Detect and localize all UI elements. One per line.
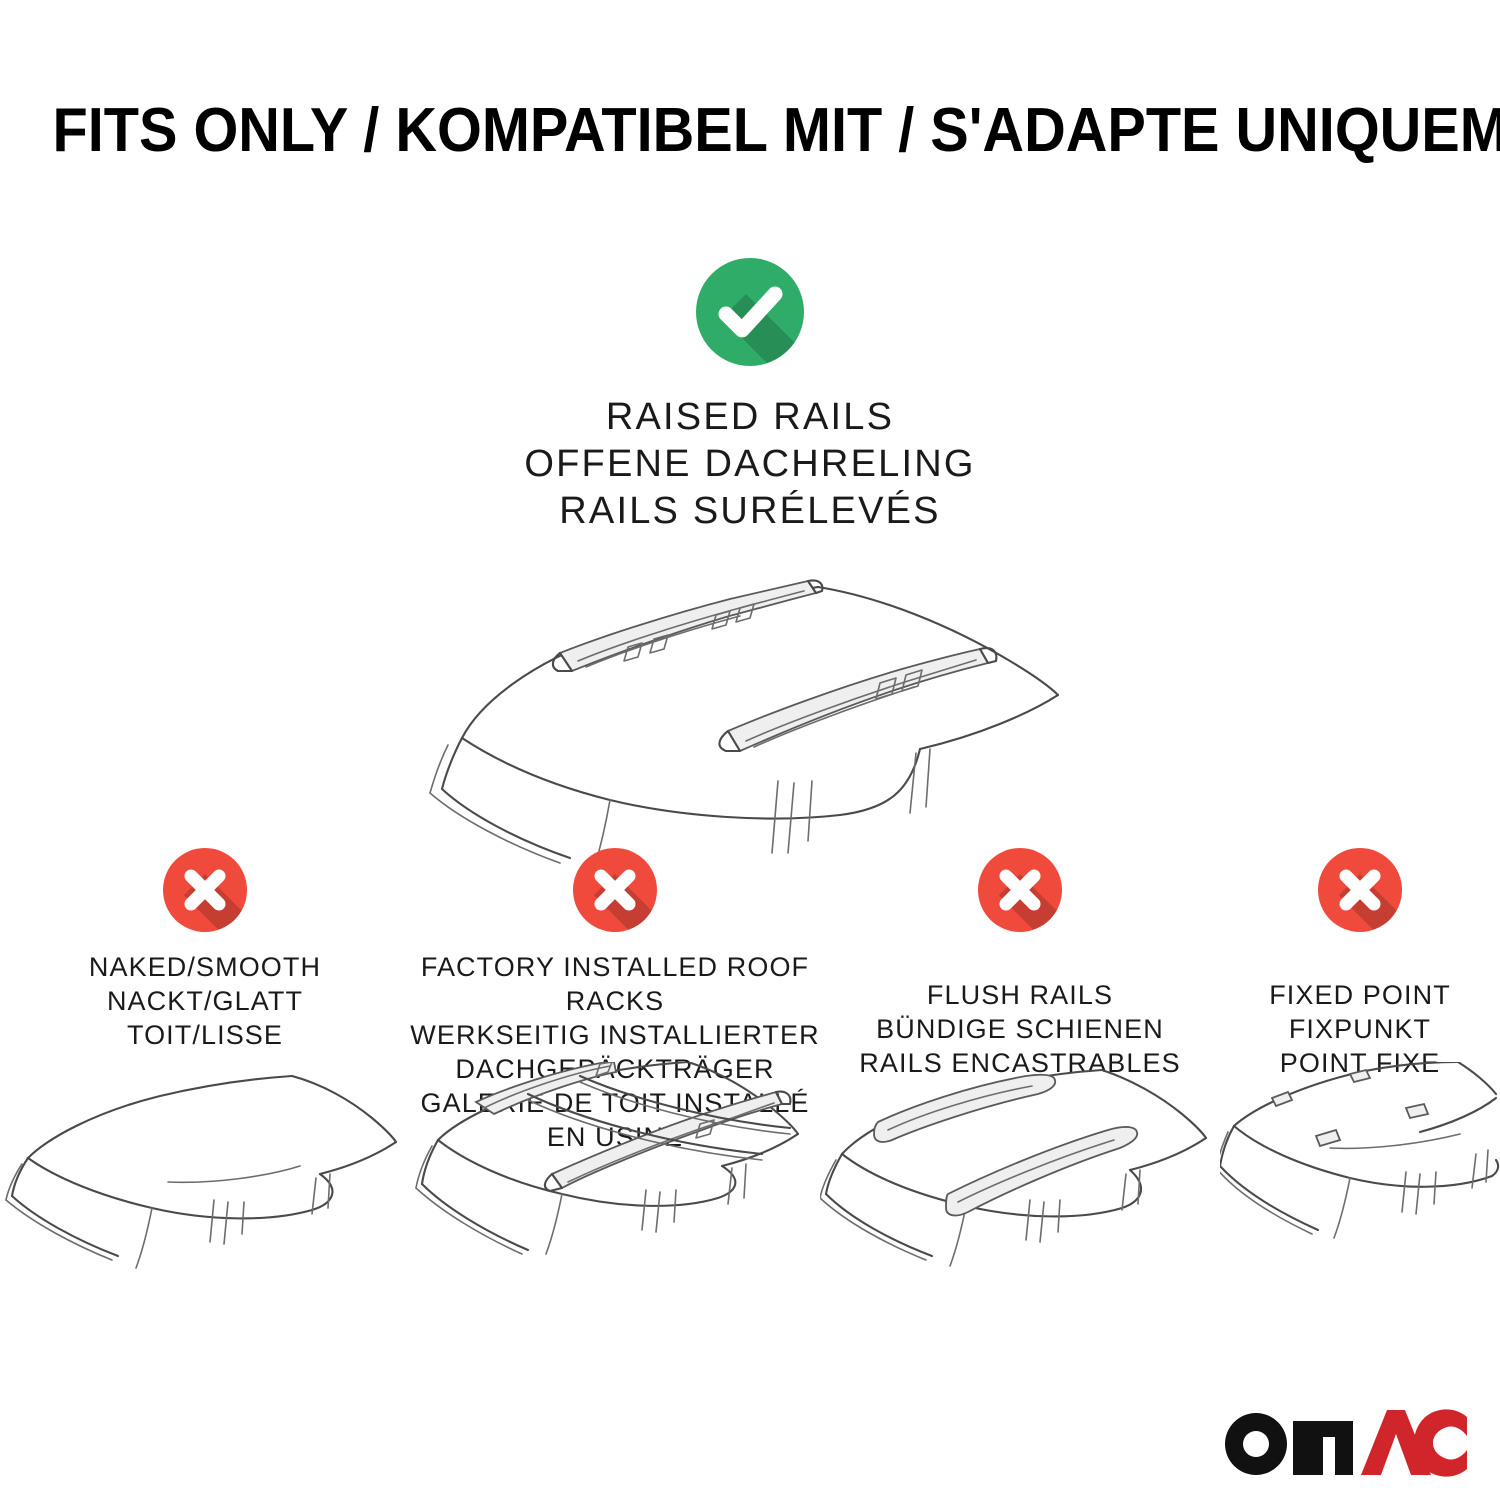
rejected-label-1-line-2: NACKT/GLATT <box>0 984 410 1018</box>
cross-glyph <box>1318 848 1402 932</box>
check-glyph <box>696 258 804 366</box>
cross-circle-icon <box>978 848 1062 932</box>
accepted-label-line-2: OFFENE DACHRELING <box>0 441 1500 488</box>
cross-badge-4 <box>1318 848 1402 932</box>
omac-logo <box>1222 1404 1467 1478</box>
cross-circle-icon <box>573 848 657 932</box>
accepted-label-line-3: RAILS SURÉLEVÉS <box>0 488 1500 535</box>
header: FITS ONLY / KOMPATIBEL MIT / S'ADAPTE UN… <box>0 98 1500 163</box>
cross-glyph <box>163 848 247 932</box>
car-roof-flush-rails-illustration <box>820 1062 1220 1302</box>
check-circle-icon <box>696 258 804 366</box>
rejected-label-1-line-3: TOIT/LISSE <box>0 1018 410 1052</box>
logo-letter-o <box>1225 1413 1287 1475</box>
cross-badge-3 <box>978 848 1062 932</box>
rejected-label-2-line-2: WERKSEITIG INSTALLIERTER <box>410 1018 820 1052</box>
omac-logo-mark <box>1222 1404 1467 1478</box>
rejected-label-1-line-1: NAKED/SMOOTH <box>0 950 410 984</box>
page-title: FITS ONLY / KOMPATIBEL MIT / S'ADAPTE UN… <box>53 98 1448 163</box>
car-roof-raised-rails-illustration <box>410 553 1090 873</box>
cross-badge-1 <box>163 848 247 932</box>
car-roof-naked-smooth-illustration <box>0 1062 410 1302</box>
rejected-label-3-line-2: BÜNDIGE SCHIENEN <box>820 1012 1220 1046</box>
logo-letter-m <box>1293 1421 1353 1475</box>
rejected-label-2-line-1: FACTORY INSTALLED ROOF RACKS <box>410 950 820 1018</box>
cross-glyph <box>573 848 657 932</box>
cross-circle-icon <box>1318 848 1402 932</box>
cross-badge-2 <box>573 848 657 932</box>
cross-glyph <box>978 848 1062 932</box>
accepted-label: RAISED RAILS OFFENE DACHRELING RAILS SUR… <box>0 394 1500 535</box>
rejected-label-4-line-1: FIXED POINT <box>1220 978 1500 1012</box>
rejected-label-3-line-1: FLUSH RAILS <box>820 978 1220 1012</box>
accepted-section: RAISED RAILS OFFENE DACHRELING RAILS SUR… <box>0 258 1500 873</box>
rejected-illustrations <box>0 1062 1500 1302</box>
check-badge <box>696 258 804 366</box>
cross-circle-icon <box>163 848 247 932</box>
rejected-label-4-line-2: FIXPUNKT <box>1220 1012 1500 1046</box>
car-roof-factory-racks-illustration <box>410 1062 820 1302</box>
car-roof-fixed-point-illustration <box>1220 1062 1500 1302</box>
rejected-label-1: NAKED/SMOOTH NACKT/GLATT TOIT/LISSE <box>0 950 410 1052</box>
accepted-label-line-1: RAISED RAILS <box>0 394 1500 441</box>
